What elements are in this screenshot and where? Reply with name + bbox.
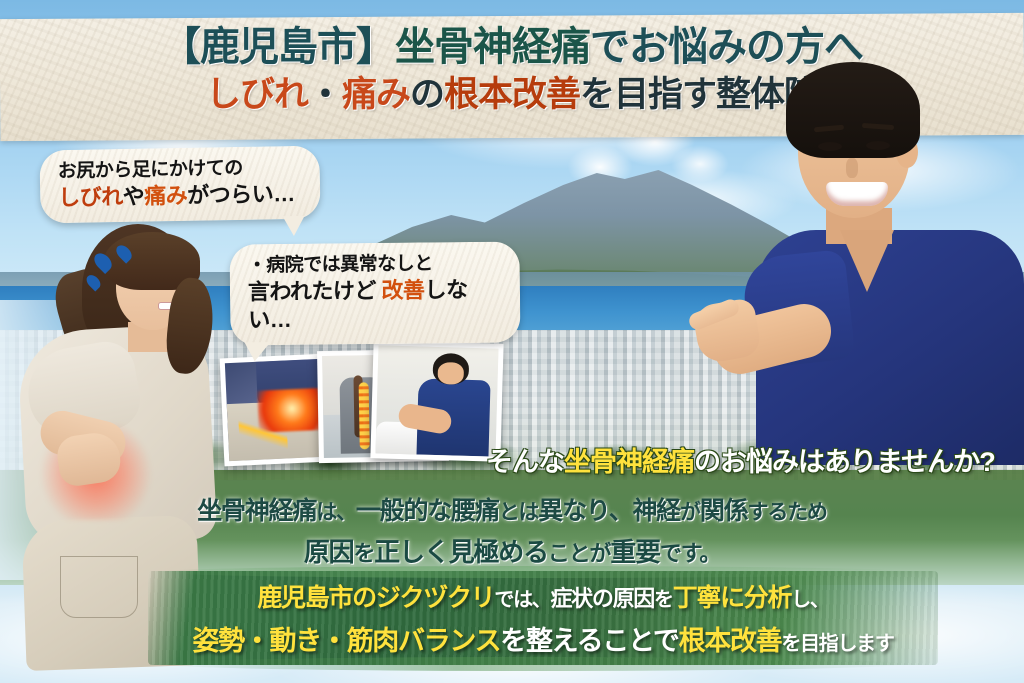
therapist-pointing (690, 62, 1024, 462)
bubble-1-line-2: しびれや痛みがつらい… (58, 180, 302, 212)
bubble-2-line-2: 言われたけど 改善しない… (248, 276, 503, 335)
headline-dot: ・ (308, 75, 342, 114)
expl-identify: 正しく見極める (374, 537, 548, 567)
promise-fundamental-improvement: 根本改善 (679, 626, 782, 656)
expl-wa: は、 (316, 501, 356, 524)
therapist-nose (846, 158, 858, 178)
promise-aim: を目指します (781, 633, 893, 655)
bubble-1-tail: がつらい… (187, 181, 295, 208)
headline-numbness: しびれ (206, 75, 308, 114)
photo3-therapist-face (437, 362, 464, 384)
speech-bubble-pain: お尻から足にかけての しびれや痛みがつらい… (39, 146, 320, 224)
promise-wo: を (654, 589, 673, 611)
expl-wo: を (353, 541, 374, 566)
bubble-1-ya: や (122, 184, 144, 209)
question-line: そんな坐骨神経痛のお悩みはありませんか? (486, 440, 1024, 479)
promise-symptom-cause: 症状の原因 (550, 586, 654, 611)
nerve-path-icon (238, 410, 288, 459)
photo-treatment (370, 340, 503, 462)
therapist-smile (826, 182, 888, 206)
explanation-block: 坐骨神経痛は、一般的な腰痛とは異なり、神経が関係するため 原因を正しく見極めるこ… (0, 492, 1024, 574)
speech-bubble-hospital: ・病院では異常なしと 言われたけど 改善しない… (229, 241, 520, 345)
headline-no: の (410, 75, 444, 114)
headline-city-bracket: 【鹿児島市】 (161, 25, 395, 69)
clinic-promise-block: 鹿児島市のジクヅクリでは、症状の原因を丁寧に分析し、 姿勢・動き・筋肉バランスを… (148, 578, 938, 665)
expl-different: 異なり、 (538, 497, 632, 525)
question-keyword-sciatica: 坐骨神経痛 (564, 447, 694, 477)
expl-related: 関係 (700, 497, 748, 525)
headline-keyword-sciatica: 坐骨神経痛 (395, 25, 590, 69)
bubble-1-pain: 痛み (144, 183, 187, 209)
headline-keyword-fundamental: 根本改善 (444, 75, 580, 114)
expl-sciatica: 坐骨神経痛 (197, 497, 316, 525)
poster-root: 【鹿児島市】坐骨神経痛でお悩みの方へ しびれ・痛みの根本改善を目指す整体院 お尻… (0, 0, 1024, 683)
bubble-2-improve: 改善 (381, 277, 424, 302)
explanation-line-1: 坐骨神経痛は、一般的な腰痛とは異なり、神経が関係するため (0, 492, 1024, 532)
clinic-promise-line-1: 鹿児島市のジクヅクリでは、症状の原因を丁寧に分析し、 (148, 578, 938, 620)
explanation-line-2: 原因を正しく見極めることが重要です。 (0, 532, 1024, 574)
expl-surutame: するため (748, 501, 827, 524)
promise-adjust: を整えることで (500, 626, 678, 656)
expl-kotoga: ことが (548, 541, 610, 566)
promise-posture-movement-muscle: 姿勢・動き・筋肉バランス (192, 626, 500, 656)
expl-desu: です。 (660, 541, 720, 566)
bubble-1-numbness: しびれ (58, 184, 123, 210)
expl-nerve: 神経 (633, 497, 681, 525)
expl-common-backpain: 一般的な腰痛 (356, 497, 499, 525)
bubble-2-line-1: ・病院では異常なしと (248, 251, 502, 279)
therapist-hair (786, 62, 920, 158)
promise-shi: し、 (791, 589, 828, 611)
spine-highlight-icon (359, 382, 370, 449)
therapist-eye-left (818, 142, 842, 151)
question-suffix: のお悩みはありませんか? (694, 447, 995, 477)
expl-toha: とは (499, 501, 539, 524)
expl-cause: 原因 (304, 537, 354, 567)
expl-important: 重要 (610, 537, 660, 567)
headline-pain: 痛み (342, 75, 410, 114)
therapist-eye-right (866, 141, 890, 150)
expl-ga: が (680, 501, 700, 524)
clinic-promise-line-2: 姿勢・動き・筋肉バランスを整えることで根本改善を目指します (148, 620, 938, 665)
question-prefix: そんな (486, 447, 564, 477)
clinic-name: 鹿児島市のジクヅクリ (257, 584, 494, 612)
promise-dewa: では、 (494, 589, 550, 611)
promise-careful-analysis: 丁寧に分析 (673, 584, 792, 612)
bubble-2-said: 言われたけど (248, 278, 382, 304)
